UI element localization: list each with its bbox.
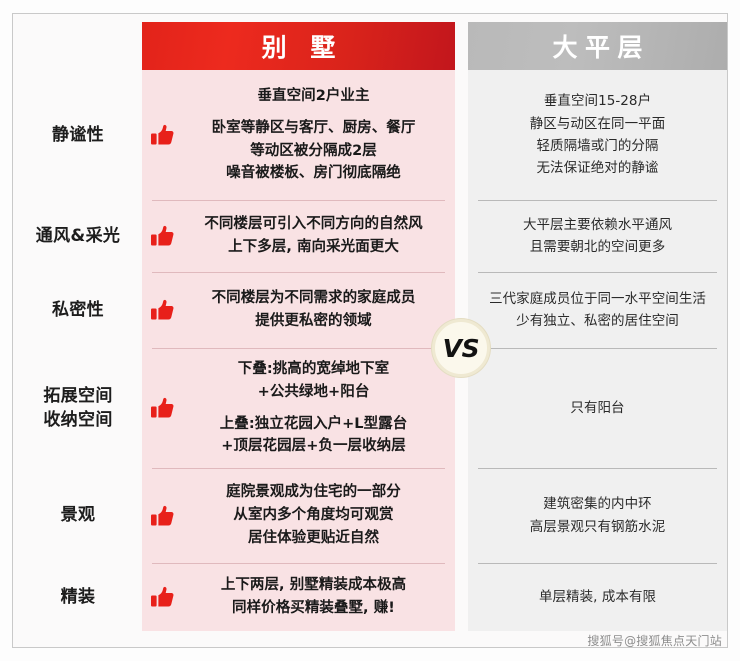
row-label: 精装 [14,563,142,631]
villa-text-line: 提供更私密的领域 [180,310,447,333]
vs-badge: VS [432,319,490,377]
row-label: 拓展空间收纳空间 [14,348,142,468]
villa-text-line: 从室内多个角度均可观赏 [180,504,447,527]
flat-cell-text: 三代家庭成员位于同一水平空间生活少有独立、私密的居住空间 [478,288,717,333]
villa-text-line: +顶层花园层+负一层收纳层 [180,435,447,458]
row-separator-villa [152,348,445,349]
row-separator-villa [152,272,445,273]
flat-cell: 建筑密集的内中环高层景观只有钢筋水泥 [468,468,727,563]
flat-text-line: 垂直空间15-28户 [478,90,717,112]
villa-cell: 垂直空间2户业主卧室等静区与客厅、厨房、餐厅等动区被分隔成2层噪音被楼板、房门彻… [142,70,455,200]
villa-text-block: 庭院景观成为住宅的一部分从室内多个角度均可观赏居住体验更贴近自然 [180,481,447,550]
villa-text-block: 下叠:挑高的宽绰地下室+公共绿地+阳台 [180,358,447,404]
table-row: 精装上下两层, 别墅精装成本极高同样价格买精装叠墅, 赚!单层精装, 成本有限 [0,563,740,631]
row-separator-flat [478,348,717,349]
thumbs-up-icon [146,395,180,421]
flat-text-line: 建筑密集的内中环 [478,493,717,515]
villa-text-block: 不同楼层可引入不同方向的自然风上下多层, 南向采光面更大 [180,213,447,259]
villa-text-line: 上下两层, 别墅精装成本极高 [180,574,447,597]
watermark: 搜狐号@搜狐焦点天门站 [587,632,722,649]
villa-text-line: 居住体验更贴近自然 [180,527,447,550]
flat-text-line: 无法保证绝对的静谧 [478,157,717,179]
flat-text-line: 只有阳台 [478,397,717,419]
villa-text-line: 上下多层, 南向采光面更大 [180,236,447,259]
villa-cell-text: 不同楼层为不同需求的家庭成员提供更私密的领域 [180,287,447,333]
flat-text-line: 大平层主要依赖水平通风 [478,214,717,236]
row-label: 静谧性 [14,70,142,200]
villa-text-line: 不同楼层为不同需求的家庭成员 [180,287,447,310]
table-row: 私密性不同楼层为不同需求的家庭成员提供更私密的领域三代家庭成员位于同一水平空间生… [0,272,740,348]
flat-cell-text: 只有阳台 [478,397,717,419]
flat-cell: 三代家庭成员位于同一水平空间生活少有独立、私密的居住空间 [468,272,727,348]
table-row: 静谧性垂直空间2户业主卧室等静区与客厅、厨房、餐厅等动区被分隔成2层噪音被楼板、… [0,70,740,200]
row-label-line: 景观 [61,503,96,527]
row-label-line: 拓展空间 [43,384,112,408]
flat-text-line: 静区与动区在同一平面 [478,113,717,135]
villa-cell: 上下两层, 别墅精装成本极高同样价格买精装叠墅, 赚! [142,563,455,631]
row-label-line: 私密性 [52,298,104,322]
villa-cell-inner: 不同楼层可引入不同方向的自然风上下多层, 南向采光面更大 [146,213,447,259]
flat-cell: 大平层主要依赖水平通风且需要朝北的空间更多 [468,200,727,272]
villa-text-block: 上叠:独立花园入户+L型露台+顶层花园层+负一层收纳层 [180,413,447,459]
villa-cell-inner: 不同楼层为不同需求的家庭成员提供更私密的领域 [146,287,447,333]
villa-cell-text: 下叠:挑高的宽绰地下室+公共绿地+阳台上叠:独立花园入户+L型露台+顶层花园层+… [180,358,447,459]
row-separator-flat [478,200,717,201]
flat-cell-text: 建筑密集的内中环高层景观只有钢筋水泥 [478,493,717,538]
thumbs-up-icon [146,122,180,148]
row-separator-villa [152,468,445,469]
row-separator-villa [152,563,445,564]
flat-cell: 垂直空间15-28户静区与动区在同一平面轻质隔墙或门的分隔无法保证绝对的静谧 [468,70,727,200]
flat-cell-text: 单层精装, 成本有限 [478,586,717,608]
row-label: 通风&采光 [14,200,142,272]
column-header-villa: 别 墅 [142,22,455,70]
comparison-table: 别 墅 大平层 静谧性垂直空间2户业主卧室等静区与客厅、厨房、餐厅等动区被分隔成… [0,0,740,661]
villa-text-line: 下叠:挑高的宽绰地下室 [180,358,447,381]
thumbs-up-icon [146,503,180,529]
villa-cell-inner: 垂直空间2户业主卧室等静区与客厅、厨房、餐厅等动区被分隔成2层噪音被楼板、房门彻… [146,85,447,186]
flat-cell-text: 大平层主要依赖水平通风且需要朝北的空间更多 [478,214,717,259]
villa-text-line: 噪音被楼板、房门彻底隔绝 [180,162,447,185]
flat-text-line: 少有独立、私密的居住空间 [478,310,717,332]
villa-cell: 庭院景观成为住宅的一部分从室内多个角度均可观赏居住体验更贴近自然 [142,468,455,563]
flat-text-line: 轻质隔墙或门的分隔 [478,135,717,157]
flat-text-line: 且需要朝北的空间更多 [478,236,717,258]
row-label: 私密性 [14,272,142,348]
comparison-infographic: 别 墅 大平层 静谧性垂直空间2户业主卧室等静区与客厅、厨房、餐厅等动区被分隔成… [0,0,740,661]
villa-cell: 下叠:挑高的宽绰地下室+公共绿地+阳台上叠:独立花园入户+L型露台+顶层花园层+… [142,348,455,468]
flat-cell: 只有阳台 [468,348,727,468]
row-separator-villa [152,200,445,201]
flat-cell: 单层精装, 成本有限 [468,563,727,631]
villa-cell-inner: 下叠:挑高的宽绰地下室+公共绿地+阳台上叠:独立花园入户+L型露台+顶层花园层+… [146,358,447,459]
row-separator-flat [478,272,717,273]
villa-cell-text: 上下两层, 别墅精装成本极高同样价格买精装叠墅, 赚! [180,574,447,620]
villa-text-line: +公共绿地+阳台 [180,381,447,404]
row-label-line: 收纳空间 [43,408,112,432]
villa-cell-text: 不同楼层可引入不同方向的自然风上下多层, 南向采光面更大 [180,213,447,259]
villa-text-line: 不同楼层可引入不同方向的自然风 [180,213,447,236]
row-separator-flat [478,468,717,469]
flat-text-line: 单层精装, 成本有限 [478,586,717,608]
row-label-line: 静谧性 [52,123,104,147]
villa-cell: 不同楼层为不同需求的家庭成员提供更私密的领域 [142,272,455,348]
column-header-flat: 大平层 [468,22,727,70]
villa-text-line: 上叠:独立花园入户+L型露台 [180,413,447,436]
table-row: 景观庭院景观成为住宅的一部分从室内多个角度均可观赏居住体验更贴近自然建筑密集的内… [0,468,740,563]
table-row: 通风&采光不同楼层可引入不同方向的自然风上下多层, 南向采光面更大大平层主要依赖… [0,200,740,272]
thumbs-up-icon [146,223,180,249]
villa-cell-inner: 上下两层, 别墅精装成本极高同样价格买精装叠墅, 赚! [146,574,447,620]
villa-cell-text: 垂直空间2户业主卧室等静区与客厅、厨房、餐厅等动区被分隔成2层噪音被楼板、房门彻… [180,85,447,186]
row-separator-flat [478,563,717,564]
thumbs-up-icon [146,297,180,323]
villa-text-block: 上下两层, 别墅精装成本极高同样价格买精装叠墅, 赚! [180,574,447,620]
column-header-flat-label: 大平层 [545,28,650,64]
villa-text-block: 垂直空间2户业主 [180,85,447,108]
row-label-line: 通风&采光 [36,224,121,248]
flat-cell-text: 垂直空间15-28户静区与动区在同一平面轻质隔墙或门的分隔无法保证绝对的静谧 [478,90,717,180]
table-row: 拓展空间收纳空间下叠:挑高的宽绰地下室+公共绿地+阳台上叠:独立花园入户+L型露… [0,348,740,468]
villa-text-line: 垂直空间2户业主 [180,85,447,108]
villa-cell: 不同楼层可引入不同方向的自然风上下多层, 南向采光面更大 [142,200,455,272]
villa-cell-inner: 庭院景观成为住宅的一部分从室内多个角度均可观赏居住体验更贴近自然 [146,481,447,550]
villa-text-block: 卧室等静区与客厅、厨房、餐厅等动区被分隔成2层噪音被楼板、房门彻底隔绝 [180,117,447,186]
villa-text-block: 不同楼层为不同需求的家庭成员提供更私密的领域 [180,287,447,333]
flat-text-line: 三代家庭成员位于同一水平空间生活 [478,288,717,310]
row-label: 景观 [14,468,142,563]
villa-text-line: 等动区被分隔成2层 [180,140,447,163]
villa-text-line: 同样价格买精装叠墅, 赚! [180,597,447,620]
thumbs-up-icon [146,584,180,610]
flat-text-line: 高层景观只有钢筋水泥 [478,516,717,538]
row-label-line: 精装 [61,585,96,609]
villa-text-line: 卧室等静区与客厅、厨房、餐厅 [180,117,447,140]
column-header-villa-label: 别 墅 [254,28,343,64]
villa-text-line: 庭院景观成为住宅的一部分 [180,481,447,504]
villa-cell-text: 庭院景观成为住宅的一部分从室内多个角度均可观赏居住体验更贴近自然 [180,481,447,550]
